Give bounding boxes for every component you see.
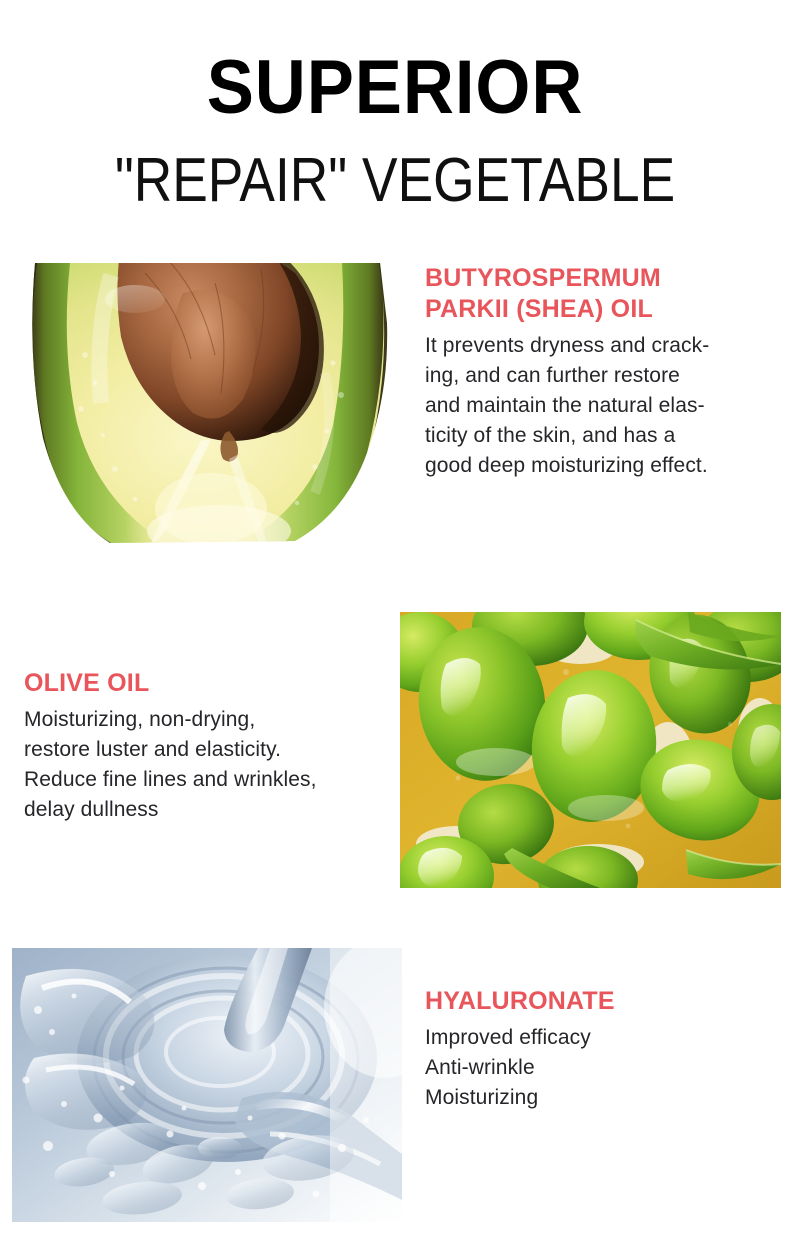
- olives-illustration: [400, 612, 781, 888]
- page-title-line-1: SUPERIOR: [28, 0, 763, 126]
- ingredient-body-olive: Moisturizing, non-drying, restore luster…: [24, 705, 384, 825]
- green-olives-photo: [400, 612, 781, 888]
- ingredient-heading-shea: BUTYROSPERMUM PARKII (SHEA) OIL: [425, 263, 775, 325]
- avocado-half-photo: [15, 263, 400, 543]
- ingredient-heading-hyaluronate: HYALURONATE: [425, 986, 775, 1017]
- ingredient-body-shea: It prevents dryness and crack- ing, and …: [425, 331, 775, 481]
- avocado-illustration: [15, 263, 400, 543]
- clear-gel-photo: [12, 948, 402, 1222]
- ingredient-body-hyaluronate: Improved efficacy Anti-wrinkle Moisturiz…: [425, 1023, 775, 1113]
- ingredient-block-olive: OLIVE OIL Moisturizing, non-drying, rest…: [24, 668, 384, 825]
- ingredient-heading-olive: OLIVE OIL: [24, 668, 384, 699]
- ingredient-block-shea: BUTYROSPERMUM PARKII (SHEA) OIL It preve…: [425, 263, 775, 481]
- page-title-line-2: "REPAIR" VEGETABLE: [55, 126, 734, 212]
- ingredient-block-hyaluronate: HYALURONATE Improved efficacy Anti-wrink…: [425, 986, 775, 1113]
- page-header: SUPERIOR "REPAIR" VEGETABLE: [0, 0, 790, 212]
- gel-illustration: [12, 948, 402, 1222]
